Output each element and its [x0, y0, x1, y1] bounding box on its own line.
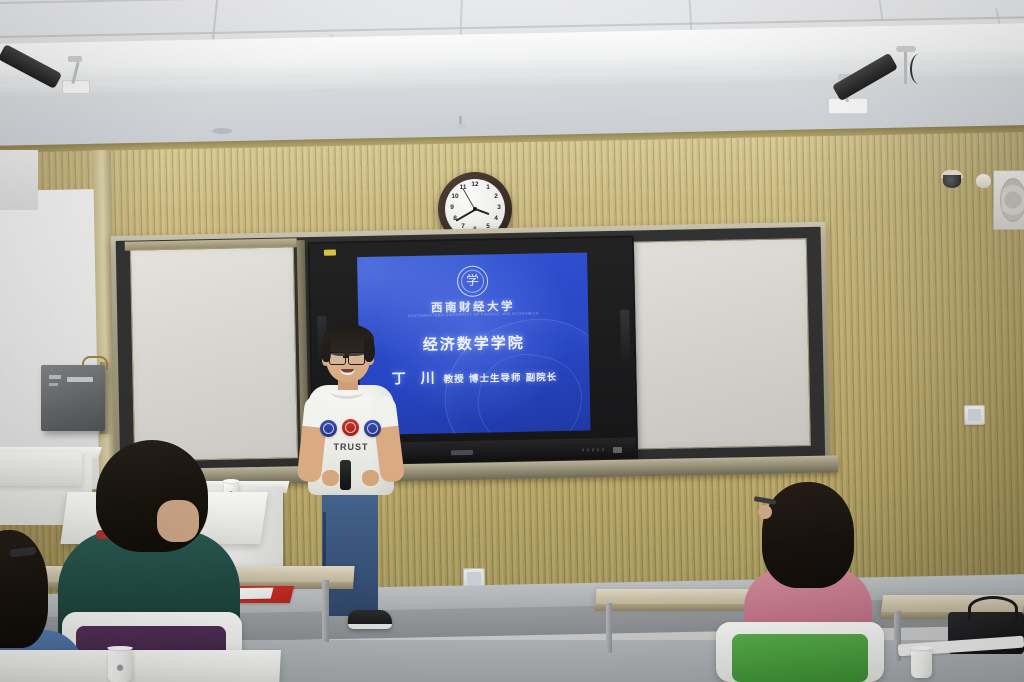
badge-ring — [367, 423, 378, 434]
left-wall-upper-panel — [0, 150, 38, 210]
clock-minute-hand — [455, 209, 475, 222]
ceiling-grid-line — [879, 0, 883, 20]
ceiling-speaker-right — [828, 46, 948, 116]
outlet-face — [968, 409, 981, 421]
display-sticker — [324, 250, 336, 256]
presenter-shoe — [348, 610, 392, 629]
attendee-ear — [758, 505, 772, 519]
attendee-hair — [762, 482, 854, 588]
shirt-print-text: TRUST — [318, 442, 384, 455]
glasses-icon — [329, 352, 346, 365]
equipment-label — [49, 375, 61, 379]
classroom-scene: 12 1 2 3 4 5 6 7 8 9 10 11 — [0, 0, 1024, 682]
ceiling-grid-line — [212, 0, 218, 40]
desk-leg — [606, 603, 612, 653]
display-ir-receiver — [613, 447, 622, 453]
presenter: TRUST — [296, 322, 406, 652]
speaker-cap — [68, 56, 82, 62]
motion-sensor-icon — [976, 174, 991, 188]
cup-rim — [223, 479, 239, 483]
chair-backrest-pad — [732, 634, 868, 682]
wall-speaker — [993, 170, 1024, 230]
badge-ring — [345, 422, 356, 433]
paper-cup[interactable] — [108, 648, 132, 682]
clock-hour-hand — [475, 208, 490, 215]
sprinkler-deflector — [455, 124, 466, 129]
emblem-glyph: 学 — [466, 275, 479, 288]
presenter-hair-side — [364, 338, 375, 362]
camera-dome — [943, 175, 961, 188]
presenter-hand-left — [322, 470, 339, 486]
cup-rim — [910, 646, 933, 650]
equipment-box[interactable] — [41, 365, 105, 431]
clock-numeral: 4 — [491, 216, 501, 223]
badge-ring — [323, 423, 334, 434]
speaker-cable — [910, 54, 928, 84]
clock-numeral: 10 — [450, 194, 460, 201]
display-brand-logo — [451, 450, 473, 455]
glasses-icon — [348, 352, 365, 365]
presenter-microphone[interactable] — [340, 460, 351, 490]
dome-camera-icon — [941, 170, 963, 190]
clock-numeral: 12 — [470, 182, 480, 189]
desk-foreground — [0, 650, 281, 682]
whiteboard-left[interactable] — [130, 246, 298, 461]
speaker-cap — [896, 46, 916, 52]
whiteboard-right[interactable] — [633, 238, 811, 449]
speaker-mount-plate — [62, 80, 90, 94]
shirt-badge-center — [342, 419, 359, 436]
shirt-badge-right — [364, 420, 381, 437]
desk-leg — [322, 580, 329, 642]
wall-outlet[interactable] — [964, 405, 985, 425]
shoe-sole — [348, 624, 392, 629]
clock-numeral: 3 — [494, 205, 504, 212]
paper-cup[interactable] — [911, 648, 932, 678]
slide-speaker-titles: 教授 博士生导师 副院长 — [444, 372, 558, 385]
attendee-neck — [157, 500, 199, 542]
chair-green[interactable] — [716, 622, 884, 682]
glasses-bridge — [343, 356, 349, 358]
shirt-badge-left — [320, 420, 337, 437]
presenter-hand-right — [362, 470, 379, 486]
ceiling-grid-line — [0, 0, 1024, 3]
clock-numeral: 2 — [491, 194, 501, 201]
clock-numeral: 1 — [483, 185, 493, 192]
speaker-rod — [904, 50, 907, 84]
ceiling-vent — [212, 128, 232, 134]
outlet-face — [467, 572, 481, 585]
clock-center-pin — [473, 207, 477, 211]
clock-numeral: 9 — [447, 205, 457, 212]
presenter-trousers — [322, 490, 378, 616]
cup-print — [115, 663, 125, 675]
board-assembly: 学 西南财经大学 SOUTHWESTERN UNIVERSITY OF FINA… — [111, 222, 831, 478]
cup-rim — [107, 646, 133, 650]
display-speaker-right — [620, 310, 630, 362]
printer-device[interactable] — [0, 452, 82, 486]
equipment-brand-logo — [67, 377, 93, 382]
ceiling-speaker-left — [12, 42, 92, 102]
display-control-buttons[interactable] — [582, 448, 606, 451]
speaker-grill — [1000, 178, 1024, 222]
equipment-label — [49, 383, 58, 386]
sprinkler-head — [455, 116, 467, 130]
handbag-handle — [968, 596, 1018, 621]
